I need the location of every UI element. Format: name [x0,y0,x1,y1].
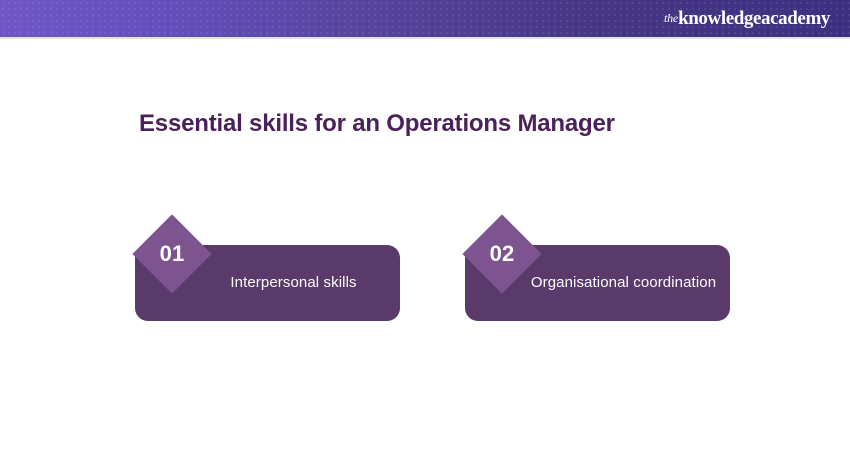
header-divider [0,37,850,39]
skill-card-01[interactable]: Interpersonal skills 01 [133,215,433,325]
brand-logo-name: knowledgeacademy [678,8,830,30]
skill-card-02[interactable]: Organisational coordination 02 [463,215,763,325]
skill-card-label: Organisational coordination [531,272,716,294]
page-title: Essential skills for an Operations Manag… [139,110,615,138]
skill-card-label: Interpersonal skills [230,272,356,294]
brand-logo[interactable]: theknowledgeacademy [664,0,830,37]
brand-logo-prefix: the [664,11,678,26]
header-bar: theknowledgeacademy [0,0,850,37]
